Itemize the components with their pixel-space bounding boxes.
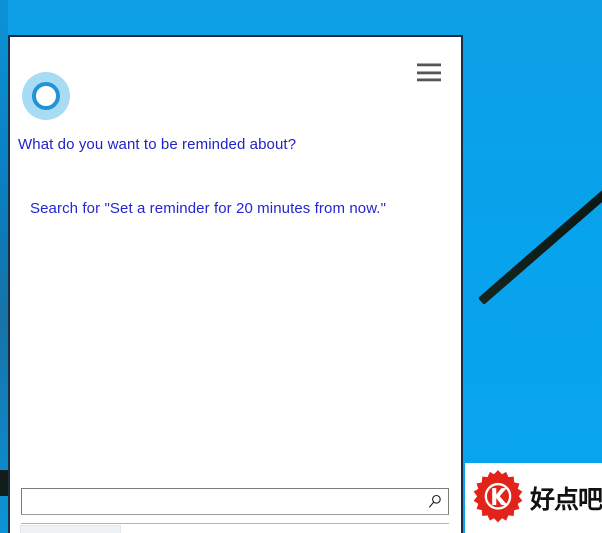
gear-k-logo-icon <box>469 469 527 527</box>
hamburger-bar-3 <box>417 78 441 82</box>
cortana-panel: What do you want to be reminded about? S… <box>8 35 463 533</box>
watermark-text: 好点吧 <box>530 480 602 516</box>
reminder-suggestion-item[interactable]: Search for "Set a reminder for 20 minute… <box>30 200 386 217</box>
reminder-prompt-text: What do you want to be reminded about? <box>18 136 296 153</box>
cortana-ring-icon[interactable] <box>22 72 70 120</box>
panel-header <box>10 37 461 95</box>
search-box-divider <box>21 523 449 524</box>
magnifier-icon[interactable] <box>422 489 448 514</box>
wallpaper-left-strip <box>0 0 8 533</box>
cortana-ring-inner <box>32 82 60 110</box>
search-box[interactable] <box>21 488 449 515</box>
hamburger-icon[interactable] <box>417 63 441 82</box>
hamburger-bar-1 <box>417 63 441 67</box>
watermark: 好点吧 <box>465 463 602 533</box>
taskbar-search-box[interactable] <box>20 525 121 533</box>
search-input[interactable] <box>22 489 422 514</box>
hamburger-bar-2 <box>417 71 441 75</box>
wallpaper-left-strip-shadow <box>0 470 8 496</box>
